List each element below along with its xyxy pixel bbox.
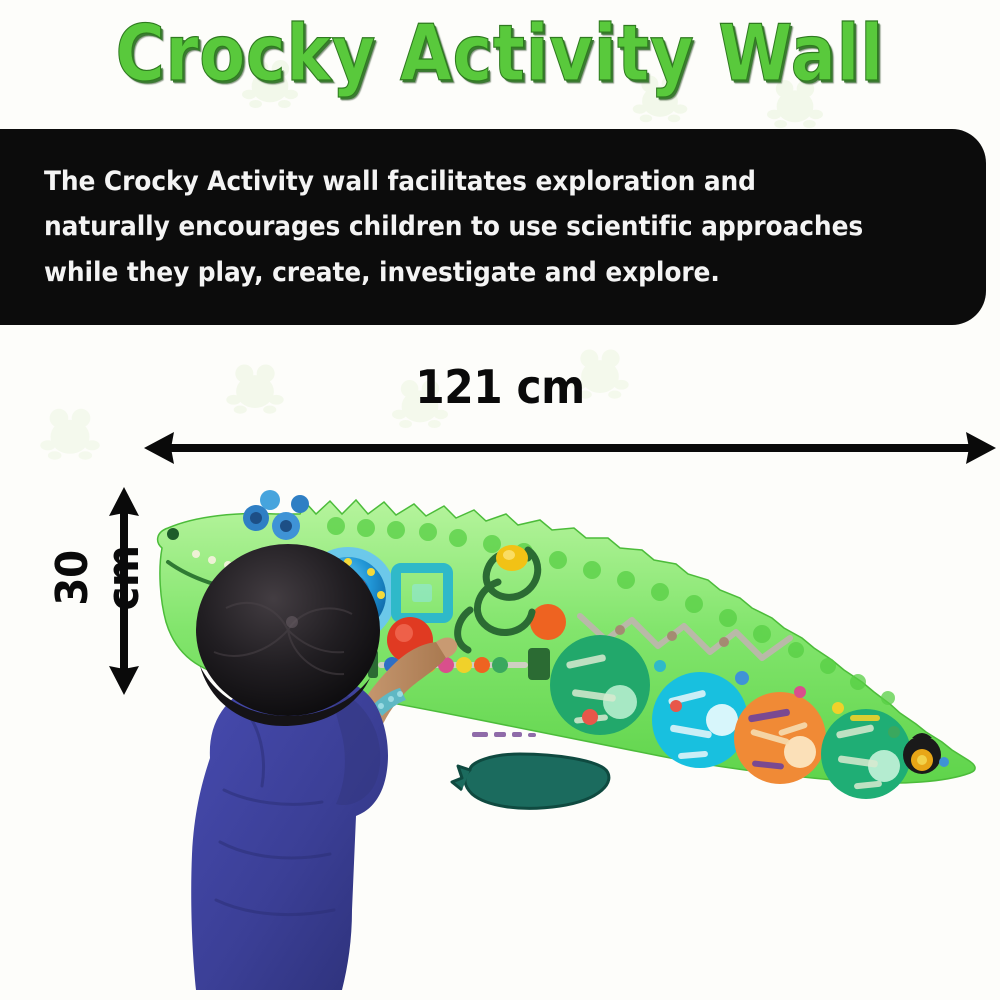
description-banner: The Crocky Activity wall facilitates exp… (0, 129, 986, 325)
page-title-text: Crocky Activity Wall (116, 15, 884, 93)
yellow-slider-bead (496, 545, 528, 571)
infographic-page: Crocky Activity Wall The Crocky Activity… (0, 0, 1000, 1000)
width-dimension-label: 121 cm (40, 360, 960, 414)
orange-bead (530, 604, 566, 640)
page-title: Crocky Activity Wall (0, 4, 1000, 104)
cyan-gear-panel (652, 672, 748, 768)
green-gear-panel (550, 635, 650, 735)
orange-gear-panel (734, 692, 826, 784)
vertical-double-arrow-icon (96, 484, 152, 698)
description-text: The Crocky Activity wall facilitates exp… (44, 159, 886, 296)
horizontal-double-arrow-icon (140, 424, 1000, 472)
teal-gear-panel (821, 709, 911, 799)
